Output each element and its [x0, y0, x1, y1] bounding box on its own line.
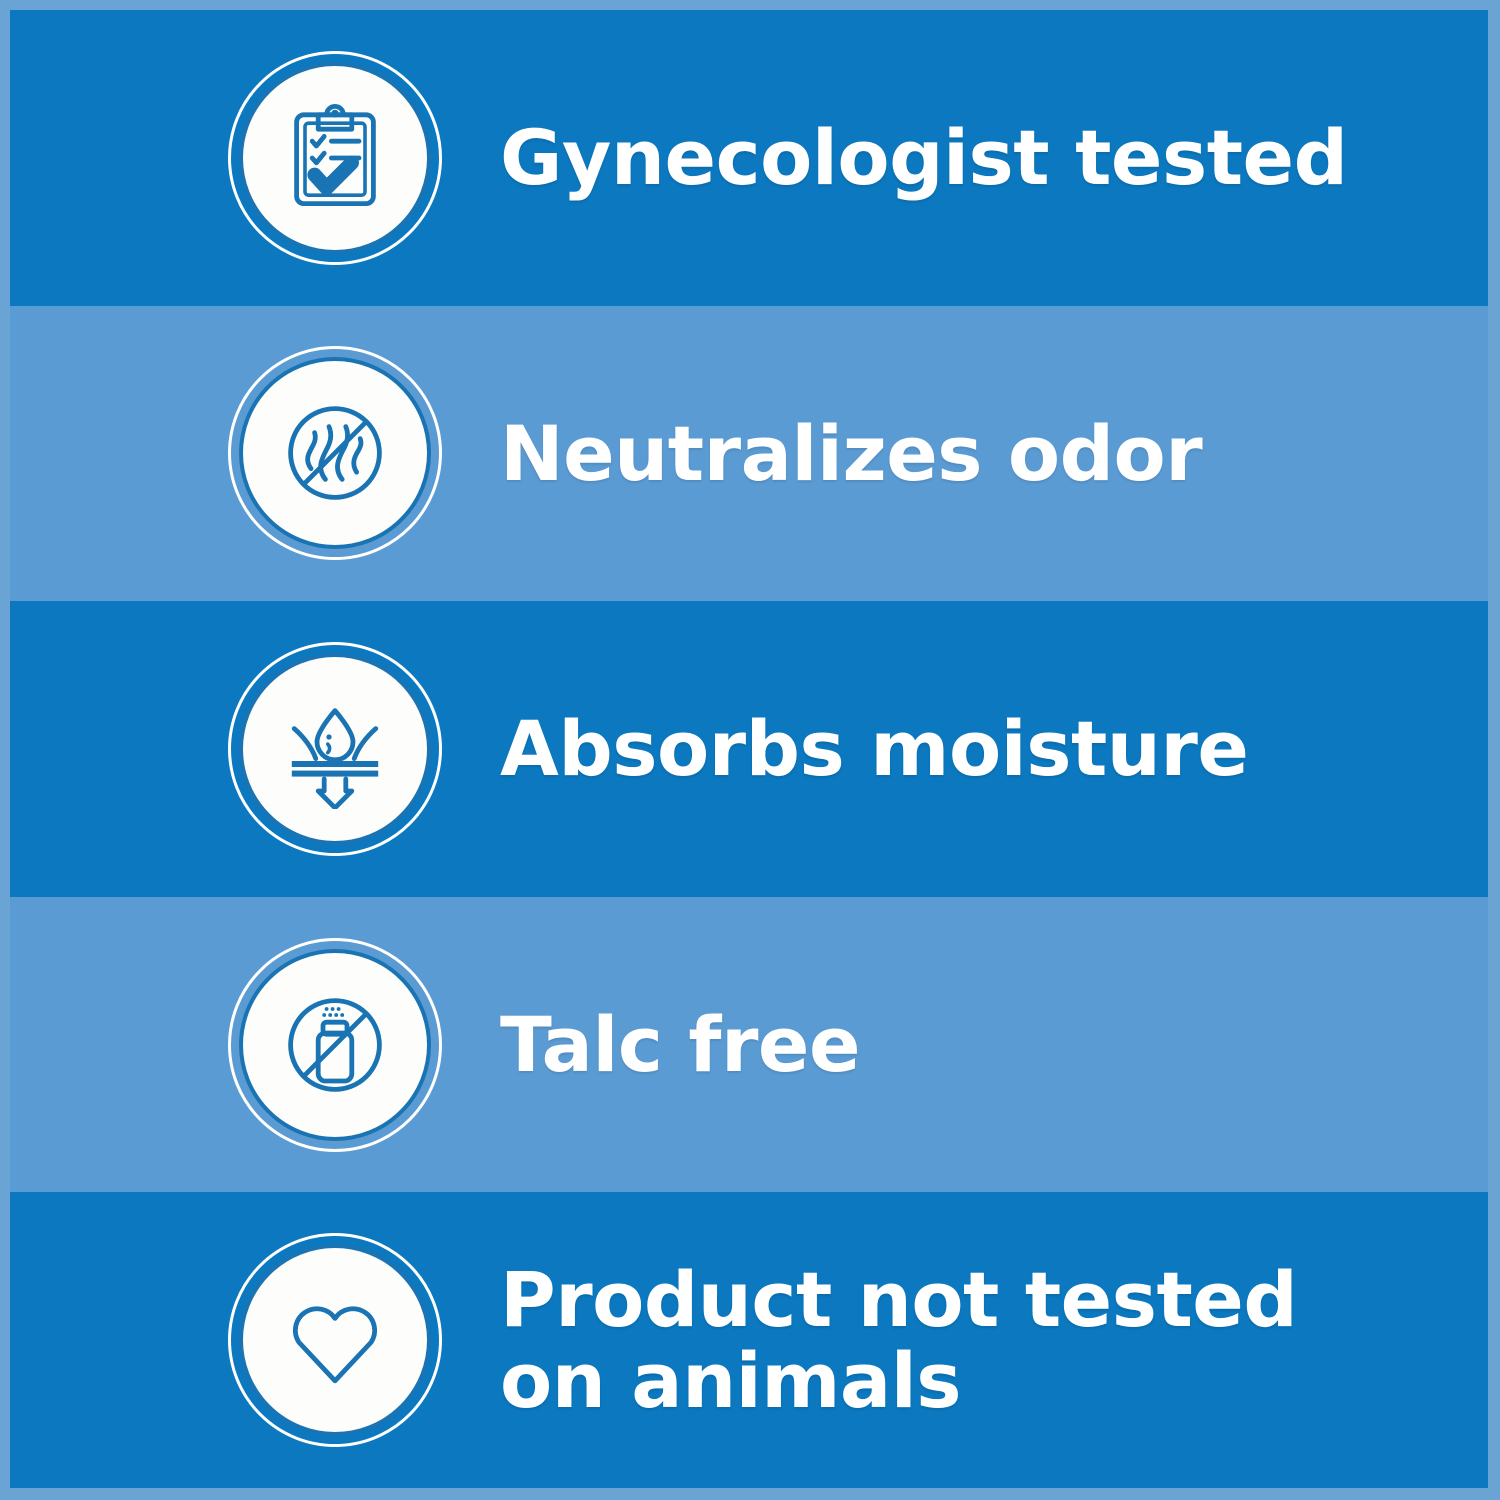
- no-talc-glyph: [275, 985, 395, 1105]
- no-talc-bottle-icon: [228, 938, 442, 1152]
- clipboard-checklist-icon: [228, 51, 442, 265]
- benefit-list: Gynecologist tested Neutralizes odor: [10, 10, 1488, 1488]
- benefit-row-neutralizes-odor: Neutralizes odor: [10, 306, 1488, 602]
- heart-icon: [228, 1233, 442, 1447]
- clipboard-checklist-glyph: [275, 98, 395, 218]
- absorb-moisture-droplet-icon: [228, 642, 442, 856]
- no-odor-glyph: [275, 393, 395, 513]
- benefit-label: Neutralizes odor: [500, 413, 1202, 494]
- badge-disc: [239, 62, 431, 254]
- benefit-row-talc-free: Talc free: [10, 897, 1488, 1193]
- badge-disc: [239, 1244, 431, 1436]
- benefit-panel: Gynecologist tested Neutralizes odor: [0, 0, 1500, 1500]
- badge-disc: [239, 949, 431, 1141]
- benefit-label: Product not tested on animals: [500, 1259, 1297, 1422]
- benefit-label: Absorbs moisture: [500, 708, 1248, 789]
- badge-disc: [239, 357, 431, 549]
- no-odor-icon: [228, 346, 442, 560]
- badge-disc: [239, 653, 431, 845]
- benefit-label: Gynecologist tested: [500, 117, 1347, 198]
- benefit-row-absorbs-moisture: Absorbs moisture: [10, 601, 1488, 897]
- absorb-moisture-glyph: [275, 689, 395, 809]
- heart-glyph: [275, 1280, 395, 1400]
- benefit-row-not-tested-on-animals: Product not tested on animals: [10, 1192, 1488, 1488]
- benefit-label: Talc free: [500, 1004, 860, 1085]
- benefit-row-gynecologist-tested: Gynecologist tested: [10, 10, 1488, 306]
